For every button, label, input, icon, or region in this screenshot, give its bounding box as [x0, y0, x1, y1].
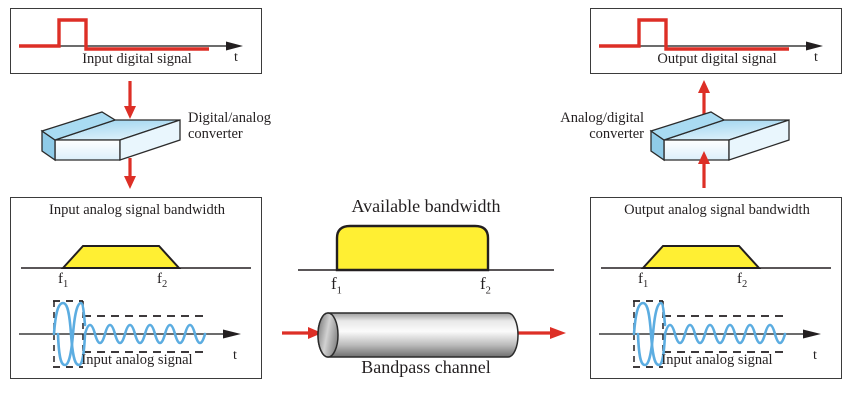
converter-label-line2: converter: [188, 126, 243, 142]
freq-f1-subscript: 1: [643, 279, 648, 290]
waveform-caption: Input analog signal: [591, 352, 843, 369]
trapezoid-bandwidth-icon: [11, 220, 261, 290]
trapezoid-bandwidth-icon: [591, 220, 841, 290]
cylinder-channel-icon: [318, 313, 518, 357]
rounded-bandpass-band-icon: [290, 220, 562, 282]
bandpass-channel-caption: Bandpass channel: [280, 357, 572, 378]
available-bandwidth-caption: Available bandwidth: [290, 196, 562, 217]
waveform-caption: Input analog signal: [11, 352, 263, 369]
digital-analog-converter-group: Digital/analog converter: [20, 78, 270, 190]
converter-label: Analog/digital converter: [522, 110, 644, 142]
panel-output-digital-signal: Output digital signal t: [590, 8, 842, 74]
freq-f2-subscript: 2: [742, 279, 747, 290]
figure-canvas: Input digital signal t: [0, 0, 852, 400]
panel-input-analog: Input analog signal bandwidth f1 f2: [10, 197, 262, 379]
bandwidth-caption: Output analog signal bandwidth: [591, 202, 843, 219]
freq-label-f2: f2: [157, 271, 167, 290]
axis-label-t: t: [813, 348, 817, 364]
axis-label-t: t: [233, 348, 237, 364]
bandpass-channel-group: Bandpass channel: [280, 295, 572, 379]
bandwidth-caption: Input analog signal bandwidth: [11, 202, 263, 219]
center-available-bandwidth-group: Available bandwidth f1 f2: [290, 196, 562, 286]
converter-label-line1: Digital/analog: [188, 110, 271, 126]
analog-digital-converter-group: Analog/digital converter: [582, 78, 832, 190]
freq-label-f2: f2: [737, 271, 747, 290]
freq-f1-subscript: 1: [63, 279, 68, 290]
converter-box-icon: [651, 112, 789, 160]
arrow-right-icon-in: [282, 327, 322, 339]
freq-label-f1: f1: [331, 274, 342, 296]
converter-label: Digital/analog converter: [188, 110, 271, 142]
panel-caption: Input digital signal: [11, 51, 263, 68]
freq-f2-subscript: 2: [162, 279, 167, 290]
axis-label-t: t: [814, 50, 818, 66]
axis-label-t: t: [234, 50, 238, 66]
arrow-down-icon-in: [124, 81, 136, 119]
converter-box-icon: [42, 112, 180, 160]
arrow-up-icon-out: [698, 80, 710, 116]
freq-label-f1: f1: [58, 271, 68, 290]
arrow-down-icon-out: [124, 158, 136, 189]
panel-output-analog: Output analog signal bandwidth f1 f2 Inp…: [590, 197, 842, 379]
converter-label-line2: converter: [589, 126, 644, 142]
freq-label-f1: f1: [638, 271, 648, 290]
freq-label-f2: f2: [480, 274, 491, 296]
panel-caption: Output digital signal: [591, 51, 843, 68]
converter-label-line1: Analog/digital: [560, 110, 644, 126]
panel-input-digital-signal: Input digital signal t: [10, 8, 262, 74]
